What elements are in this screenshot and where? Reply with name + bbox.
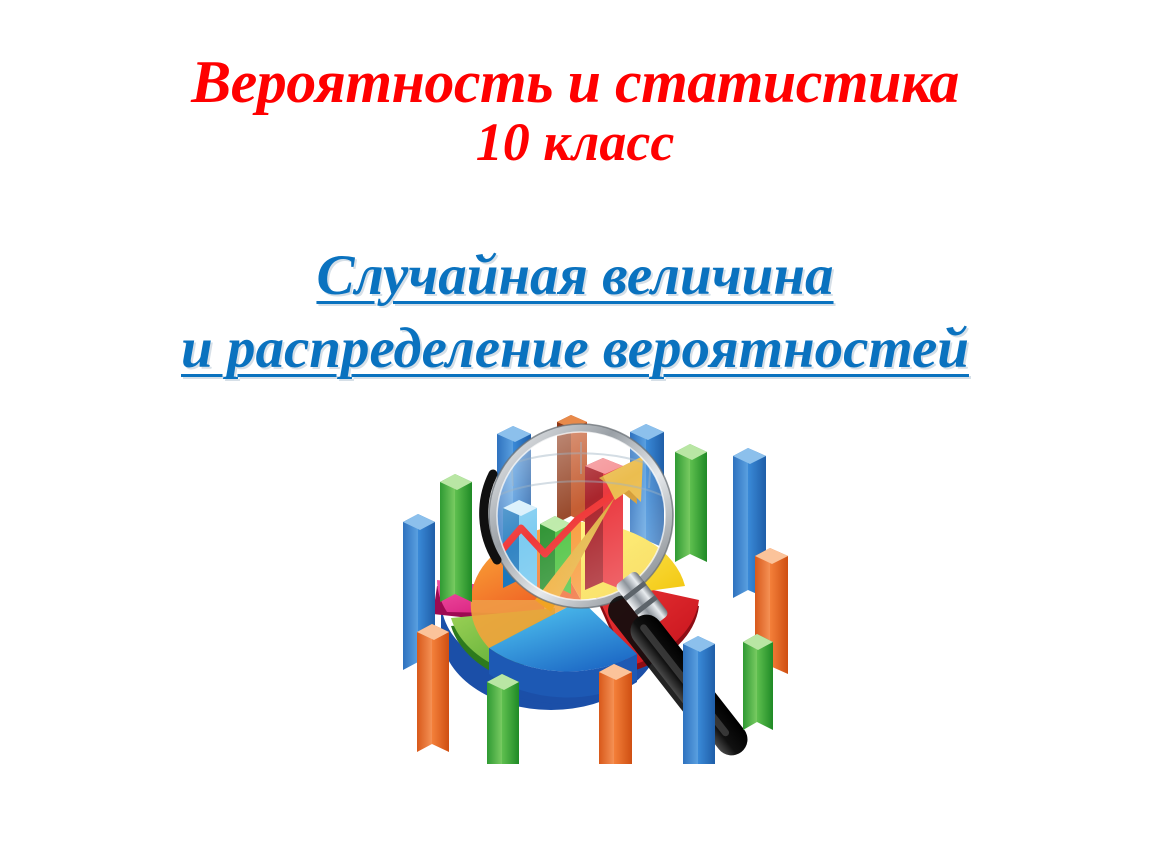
- page-subtitle: Случайная величина и распределение вероя…: [0, 242, 1150, 383]
- slide-canvas: Вероятность и статистика 10 класс Случай…: [0, 0, 1150, 864]
- title-line-1: Вероятность и статистика: [0, 52, 1150, 113]
- page-title: Вероятность и статистика 10 класс: [0, 52, 1150, 170]
- subtitle-line-2: и распределение вероятностей: [0, 315, 1150, 382]
- statistics-clipart-image: [385, 404, 805, 764]
- bar-green-bottom-left: [487, 674, 519, 764]
- bar-green-back-right: [675, 444, 707, 562]
- bar-blue-bottom-right: [683, 636, 715, 764]
- bar-orange-lower-left: [417, 624, 449, 752]
- subtitle-line-1: Случайная величина: [0, 242, 1150, 309]
- bar-green-upper-left: [440, 474, 472, 602]
- title-line-2: 10 класс: [0, 115, 1150, 170]
- bar-green-right-lower: [743, 634, 773, 730]
- bar-orange-bottom-center: [599, 664, 632, 764]
- statistics-illustration-svg: [385, 404, 805, 764]
